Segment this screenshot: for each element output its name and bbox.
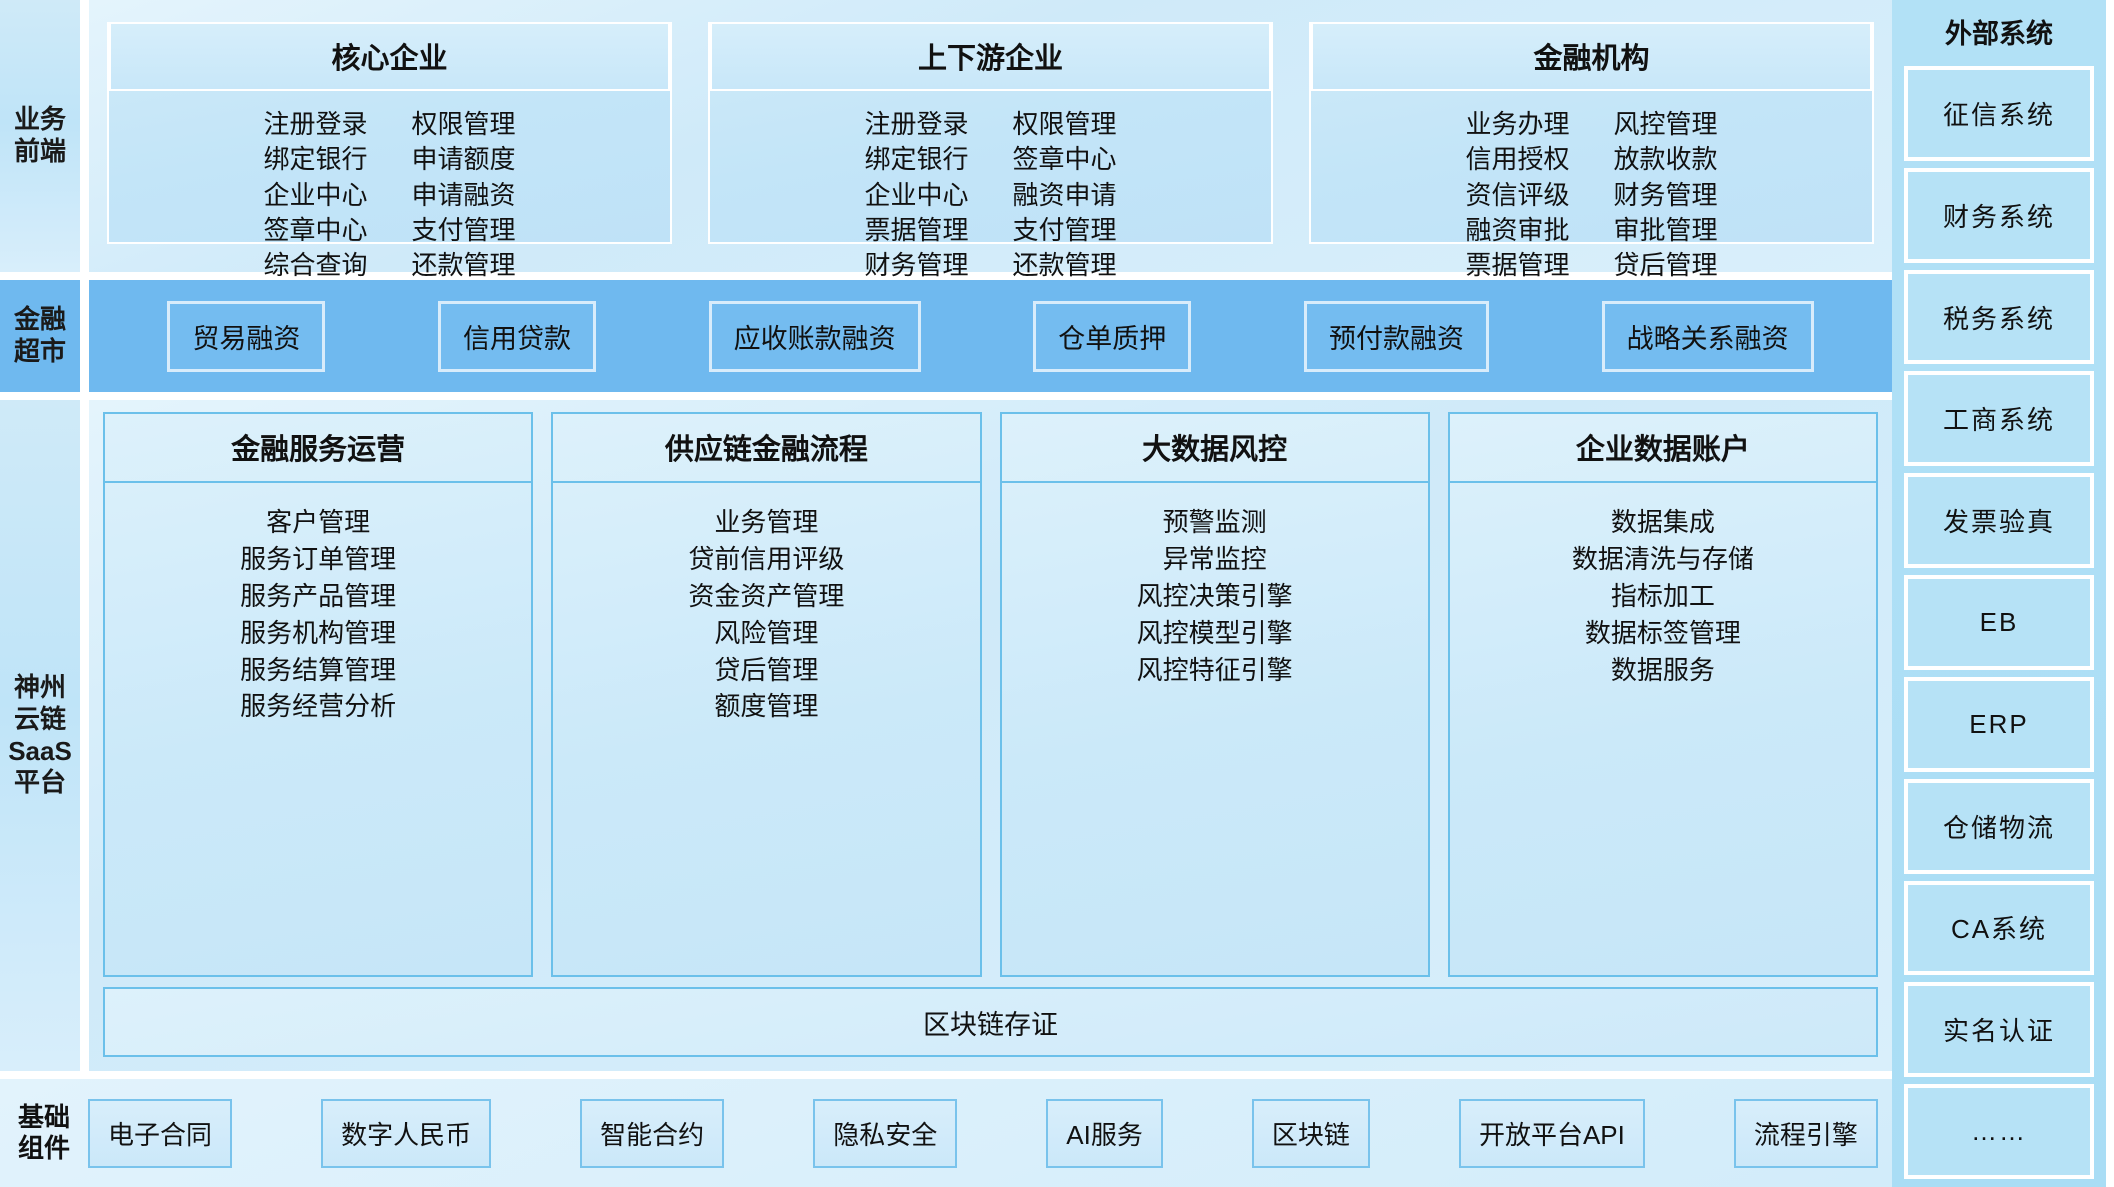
external-system-item-more[interactable]: …… <box>1904 1084 2094 1179</box>
external-system-item[interactable]: 税务系统 <box>1904 270 2094 365</box>
external-systems-title: 外部系统 <box>1945 6 2053 59</box>
feature-item[interactable]: 审批管理 <box>1614 213 1718 247</box>
feature-column-right: 权限管理 申请额度 申请融资 支付管理 还款管理 <box>412 107 516 283</box>
saas-feature-item[interactable]: 客户管理 <box>266 505 370 541</box>
band-base-components: 基础 组件 电子合同 数字人民币 智能合约 隐私安全 AI服务 区块链 开放平台… <box>0 1079 1892 1187</box>
external-systems-sidebar: 外部系统 征信系统 财务系统 税务系统 工商系统 发票验真 EB ERP 仓储物… <box>1892 0 2106 1187</box>
feature-item[interactable]: 绑定银行 <box>263 142 367 176</box>
feature-column-left: 业务办理 信用授权 资信评级 融资审批 票据管理 <box>1465 107 1569 283</box>
band-panel-finance-supermarket: 贸易融资 信用贷款 应收账款融资 仓单质押 预付款融资 战略关系融资 <box>89 280 1892 392</box>
feature-item[interactable]: 支付管理 <box>1013 213 1117 247</box>
card-body: 预警监测 异常监控 风控决策引擎 风控模型引擎 风控特征引擎 <box>1002 483 1428 975</box>
feature-item[interactable]: 申请额度 <box>412 142 516 176</box>
feature-column-right: 风控管理 放款收款 财务管理 审批管理 贷后管理 <box>1614 107 1718 283</box>
card-title: 金融机构 <box>1311 22 1872 91</box>
saas-feature-item[interactable]: 服务产品管理 <box>240 579 396 615</box>
feature-column-left: 注册登录 绑定银行 企业中心 票据管理 财务管理 <box>864 107 968 283</box>
market-product-chip[interactable]: 战略关系融资 <box>1602 301 1814 372</box>
frontend-card-upstream-downstream-enterprise[interactable]: 上下游企业 注册登录 绑定银行 企业中心 票据管理 财务管理 权限管理 签章中心 <box>708 22 1273 244</box>
saas-feature-item[interactable]: 服务经营分析 <box>240 689 396 725</box>
feature-item[interactable]: 融资审批 <box>1465 213 1569 247</box>
feature-item[interactable]: 注册登录 <box>864 107 968 141</box>
saas-feature-item[interactable]: 数据集成 <box>1611 505 1715 541</box>
feature-item[interactable]: 企业中心 <box>864 178 968 212</box>
base-component-chip[interactable]: 数字人民币 <box>321 1099 491 1168</box>
feature-item[interactable]: 支付管理 <box>412 213 516 247</box>
external-system-item[interactable]: EB <box>1904 575 2094 670</box>
card-body: 业务管理 贷前信用评级 资金资产管理 风险管理 贷后管理 额度管理 <box>553 483 979 975</box>
base-component-list: 电子合同 数字人民币 智能合约 隐私安全 AI服务 区块链 开放平台API 流程… <box>88 1099 1878 1168</box>
saas-feature-item[interactable]: 业务管理 <box>714 505 818 541</box>
saas-feature-item[interactable]: 预警监测 <box>1163 505 1267 541</box>
feature-item[interactable]: 权限管理 <box>412 107 516 141</box>
card-title: 金融服务运营 <box>105 414 531 483</box>
saas-feature-item[interactable]: 数据清洗与存储 <box>1572 542 1754 578</box>
market-product-chip[interactable]: 信用贷款 <box>438 301 596 372</box>
card-title: 供应链金融流程 <box>553 414 979 483</box>
feature-item[interactable]: 财务管理 <box>1614 178 1718 212</box>
saas-card-row: 金融服务运营 客户管理 服务订单管理 服务产品管理 服务机构管理 服务结算管理 … <box>103 412 1878 977</box>
band-business-frontend: 业务 前端 核心企业 注册登录 绑定银行 企业中心 签章中心 综合查询 权限管 <box>0 0 1892 272</box>
card-title: 大数据风控 <box>1002 414 1428 483</box>
external-system-item[interactable]: 实名认证 <box>1904 982 2094 1077</box>
saas-feature-item[interactable]: 数据标签管理 <box>1585 616 1741 652</box>
feature-item[interactable]: 申请融资 <box>412 178 516 212</box>
card-title: 企业数据账户 <box>1450 414 1876 483</box>
card-body: 客户管理 服务订单管理 服务产品管理 服务机构管理 服务结算管理 服务经营分析 <box>105 483 531 975</box>
feature-item[interactable]: 票据管理 <box>1465 248 1569 282</box>
external-system-item[interactable]: 征信系统 <box>1904 66 2094 161</box>
saas-feature-item[interactable]: 指标加工 <box>1611 579 1715 615</box>
band-panel-saas-platform: 金融服务运营 客户管理 服务订单管理 服务产品管理 服务机构管理 服务结算管理 … <box>89 400 1892 1071</box>
saas-feature-item[interactable]: 贷前信用评级 <box>688 542 844 578</box>
saas-feature-item[interactable]: 服务订单管理 <box>240 542 396 578</box>
band-saas-platform: 神州 云链 SaaS 平台 金融服务运营 客户管理 服务订单管理 服务产品管理 … <box>0 400 1892 1071</box>
band-label-saas-platform: 神州 云链 SaaS 平台 <box>0 400 80 1071</box>
saas-card-big-data-risk-control[interactable]: 大数据风控 预警监测 异常监控 风控决策引擎 风控模型引擎 风控特征引擎 <box>1000 412 1430 977</box>
feature-item[interactable]: 票据管理 <box>864 213 968 247</box>
main-column: 业务 前端 核心企业 注册登录 绑定银行 企业中心 签章中心 综合查询 权限管 <box>0 0 1892 1187</box>
external-system-item[interactable]: 财务系统 <box>1904 168 2094 263</box>
saas-card-enterprise-data-account[interactable]: 企业数据账户 数据集成 数据清洗与存储 指标加工 数据标签管理 数据服务 <box>1448 412 1878 977</box>
card-body: 业务办理 信用授权 资信评级 融资审批 票据管理 风控管理 放款收款 财务管理 … <box>1311 91 1872 293</box>
card-title: 上下游企业 <box>710 22 1271 91</box>
feature-item[interactable]: 业务办理 <box>1465 107 1569 141</box>
card-body: 数据集成 数据清洗与存储 指标加工 数据标签管理 数据服务 <box>1450 483 1876 975</box>
saas-feature-item[interactable]: 数据服务 <box>1611 653 1715 689</box>
saas-feature-item[interactable]: 贷后管理 <box>714 653 818 689</box>
base-component-chip[interactable]: 区块链 <box>1252 1099 1370 1168</box>
external-system-item[interactable]: 工商系统 <box>1904 371 2094 466</box>
card-body: 注册登录 绑定银行 企业中心 签章中心 综合查询 权限管理 申请额度 申请融资 … <box>109 91 670 293</box>
feature-column-left: 注册登录 绑定银行 企业中心 签章中心 综合查询 <box>263 107 367 283</box>
market-product-chip[interactable]: 贸易融资 <box>167 301 325 372</box>
external-system-item[interactable]: ERP <box>1904 677 2094 772</box>
base-component-chip[interactable]: 开放平台API <box>1459 1099 1645 1168</box>
band-panel-business-frontend: 核心企业 注册登录 绑定银行 企业中心 签章中心 综合查询 权限管理 申请额度 <box>89 0 1892 272</box>
feature-column-right: 权限管理 签章中心 融资申请 支付管理 还款管理 <box>1013 107 1117 283</box>
feature-item[interactable]: 融资申请 <box>1013 178 1117 212</box>
feature-item[interactable]: 贷后管理 <box>1614 248 1718 282</box>
external-system-item[interactable]: 发票验真 <box>1904 473 2094 568</box>
feature-item[interactable]: 权限管理 <box>1013 107 1117 141</box>
external-system-item[interactable]: CA系统 <box>1904 881 2094 976</box>
saas-feature-item[interactable]: 风控模型引擎 <box>1137 616 1293 652</box>
base-component-chip[interactable]: 流程引擎 <box>1734 1099 1878 1168</box>
feature-item[interactable]: 资信评级 <box>1465 178 1569 212</box>
saas-card-supply-chain-finance-process[interactable]: 供应链金融流程 业务管理 贷前信用评级 资金资产管理 风险管理 贷后管理 额度管… <box>551 412 981 977</box>
market-product-chip[interactable]: 预付款融资 <box>1304 301 1489 372</box>
feature-item[interactable]: 风控管理 <box>1614 107 1718 141</box>
saas-feature-item[interactable]: 服务机构管理 <box>240 616 396 652</box>
saas-feature-item[interactable]: 服务结算管理 <box>240 653 396 689</box>
market-product-chip[interactable]: 应收账款融资 <box>709 301 921 372</box>
saas-card-financial-service-operation[interactable]: 金融服务运营 客户管理 服务订单管理 服务产品管理 服务机构管理 服务结算管理 … <box>103 412 533 977</box>
feature-item[interactable]: 签章中心 <box>263 213 367 247</box>
saas-feature-item[interactable]: 风控决策引擎 <box>1137 579 1293 615</box>
card-title: 核心企业 <box>109 22 670 91</box>
frontend-card-financial-institution[interactable]: 金融机构 业务办理 信用授权 资信评级 融资审批 票据管理 风控管理 放款收款 <box>1309 22 1874 244</box>
saas-feature-item[interactable]: 资金资产管理 <box>688 579 844 615</box>
band-label-business-frontend: 业务 前端 <box>0 0 80 272</box>
feature-item[interactable]: 签章中心 <box>1013 142 1117 176</box>
feature-item[interactable]: 还款管理 <box>412 248 516 282</box>
card-body: 注册登录 绑定银行 企业中心 票据管理 财务管理 权限管理 签章中心 融资申请 … <box>710 91 1271 293</box>
architecture-diagram: 业务 前端 核心企业 注册登录 绑定银行 企业中心 签章中心 综合查询 权限管 <box>0 0 2114 1187</box>
saas-feature-item[interactable]: 风控特征引擎 <box>1137 653 1293 689</box>
base-component-chip[interactable]: AI服务 <box>1046 1099 1163 1168</box>
feature-item[interactable]: 放款收款 <box>1614 142 1718 176</box>
frontend-card-core-enterprise[interactable]: 核心企业 注册登录 绑定银行 企业中心 签章中心 综合查询 权限管理 申请额度 <box>107 22 672 244</box>
feature-item[interactable]: 财务管理 <box>864 248 968 282</box>
saas-feature-item[interactable]: 异常监控 <box>1163 542 1267 578</box>
external-system-item[interactable]: 仓储物流 <box>1904 779 2094 874</box>
feature-item[interactable]: 企业中心 <box>263 178 367 212</box>
base-component-chip[interactable]: 智能合约 <box>580 1099 724 1168</box>
feature-item[interactable]: 注册登录 <box>263 107 367 141</box>
market-product-chip[interactable]: 仓单质押 <box>1033 301 1191 372</box>
feature-item[interactable]: 绑定银行 <box>864 142 968 176</box>
band-label-finance-supermarket: 金融 超市 <box>0 280 80 392</box>
base-component-chip[interactable]: 隐私安全 <box>813 1099 957 1168</box>
feature-item[interactable]: 综合查询 <box>263 248 367 282</box>
band-label-base-components: 基础 组件 <box>18 1102 74 1164</box>
feature-item[interactable]: 还款管理 <box>1013 248 1117 282</box>
blockchain-evidence-bar[interactable]: 区块链存证 <box>103 987 1878 1057</box>
base-component-chip[interactable]: 电子合同 <box>88 1099 232 1168</box>
band-finance-supermarket: 金融 超市 贸易融资 信用贷款 应收账款融资 仓单质押 预付款融资 战略关系融资 <box>0 280 1892 392</box>
saas-feature-item[interactable]: 风险管理 <box>714 616 818 652</box>
band-panel-base-components: 基础 组件 电子合同 数字人民币 智能合约 隐私安全 AI服务 区块链 开放平台… <box>0 1079 1892 1187</box>
feature-item[interactable]: 信用授权 <box>1465 142 1569 176</box>
saas-feature-item[interactable]: 额度管理 <box>714 689 818 725</box>
